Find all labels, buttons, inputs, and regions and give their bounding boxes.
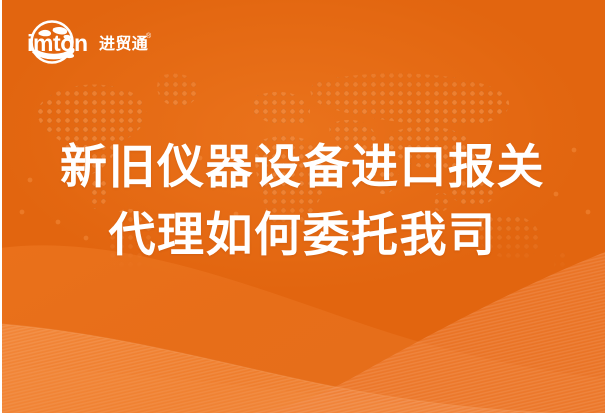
logo-wordmark-latin: imton xyxy=(27,30,88,56)
registered-trademark-icon: ® xyxy=(146,32,152,40)
headline-line-1: 新旧仪器设备进口报关 xyxy=(0,133,605,201)
left-edge-gutter xyxy=(0,0,2,413)
headline: 新旧仪器设备进口报关 代理如何委托我司 xyxy=(0,133,605,269)
headline-line-2: 代理如何委托我司 xyxy=(0,201,605,269)
logo-wordmark-chinese: 进贸通 xyxy=(99,34,148,53)
promo-banner: 新旧仪器设备进口报关 代理如何委托我司 xyxy=(0,0,605,413)
brand-logo[interactable]: imton 进贸通 ® xyxy=(14,16,154,70)
dotted-world-map xyxy=(0,62,605,277)
bottom-wave-ribbon xyxy=(0,238,605,413)
